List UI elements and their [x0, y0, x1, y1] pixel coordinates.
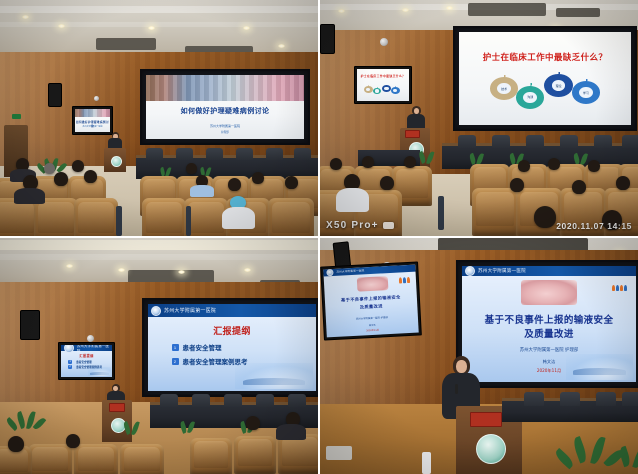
speaker-box: [48, 83, 62, 107]
auditorium-scene-tl: 如何做好护理疑难病例讨论 苏州大学附属第一医院 如何做好护理疑难病例讨论 苏州大…: [0, 0, 318, 236]
camera-icon: [87, 335, 94, 342]
side-monitor-title-tr: 护士在临床工作中最缺乏什么？: [357, 74, 409, 78]
slide-sub2-tl: 护理部: [146, 130, 304, 134]
slide-bl: 苏州大学附属第一医院 汇报提纲 1 患者安全管理 2 患者安全管理案例思考: [148, 304, 316, 391]
bullet-number-icon: 1: [172, 344, 179, 351]
slide-title-bl: 汇报提纲: [148, 324, 316, 337]
nameplate: [470, 412, 502, 427]
panel-top-right: 护士在临床工作中最缺乏什么？ 护士在临床工作中最缺乏什么？: [320, 0, 638, 236]
slide-decor-graphic: [235, 363, 312, 389]
speaker-box: [320, 24, 335, 54]
auditorium-scene-tr: 护士在临床工作中最缺乏什么？ 护士在临床工作中最缺乏什么？: [320, 0, 638, 236]
projection-screen-tl: 如何做好护理疑难病例讨论 苏州大学附属第一医院 护理部: [140, 69, 310, 145]
slide-title-tr: 护士在临床工作中最缺乏什么？: [459, 51, 631, 63]
camera-watermark: X50 Pro+: [326, 220, 394, 231]
bullet-number-icon: 2: [172, 358, 179, 365]
slide-header-bar: 苏州大学附属第一医院: [148, 304, 316, 317]
side-monitor-bl: 苏州大学附属第一医院 汇报提纲 1患者安全管理 2患者安全管理案例思考: [58, 342, 115, 380]
side-monitor-tl: 如何做好护理疑难病例讨论 苏州大学附属第一医院: [72, 106, 113, 135]
panel-bottom-right: 苏州大学附属第一医院 基于不良事件上报的输液安全 及质量改进 苏州大学附属第一医…: [320, 238, 638, 474]
photo-timestamp: 2020.11.07 14:15: [556, 221, 632, 231]
watermark-text: X50 Pro+: [326, 220, 379, 231]
slide-tr: 护士在临床工作中最缺乏什么？ 技术 沟通 理论: [459, 32, 631, 125]
nameplate: [109, 403, 125, 412]
nameplate: [405, 130, 420, 138]
patient-bed-illustration: [521, 280, 577, 306]
projection-screen-tr: 护士在临床工作中最缺乏什么？ 技术 沟通 理论: [453, 26, 637, 131]
university-logo-icon: [151, 306, 161, 316]
slide-sub1-tl: 苏州大学附属第一医院: [146, 124, 304, 128]
slide-title-tl: 如何做好护理疑难病例讨论: [146, 106, 304, 116]
slide-bullet-1: 1 患者安全管理: [172, 342, 222, 352]
gear-diagram: 技术 沟通 理论 学习: [490, 73, 604, 110]
speaker-box: [20, 310, 40, 340]
podium-tl: [104, 148, 126, 172]
panel-top-left: 如何做好护理疑难病例讨论 苏州大学附属第一医院 如何做好护理疑难病例讨论 苏州大…: [0, 0, 318, 236]
camera-badge-icon: [383, 222, 394, 229]
camera-icon: [380, 38, 388, 46]
slide-title-line1-br: 基于不良事件上报的输液安全: [462, 312, 636, 326]
auditorium-scene-br: 苏州大学附属第一医院 基于不良事件上报的输液安全 及质量改进 苏州大学附属第一医…: [320, 238, 638, 474]
podium-emblem-icon: [476, 434, 506, 464]
panel-bottom-left: 苏州大学附属第一医院 汇报提纲 1患者安全管理 2患者安全管理案例思考 苏州大学…: [0, 238, 318, 474]
projection-screen-bl: 苏州大学附属第一医院 汇报提纲 1 患者安全管理 2 患者安全管理案例思考: [142, 298, 318, 397]
slide-header-bar: 苏州大学附属第一医院: [462, 266, 636, 276]
side-monitor-br: 苏州大学附属第一医院 基于不良事件上报的输液安全 及质量改进 苏州大学附属第一医…: [320, 261, 422, 340]
side-monitor-tr: 护士在临床工作中最缺乏什么？: [354, 66, 412, 104]
slide-br: 苏州大学附属第一医院 基于不良事件上报的输液安全 及质量改进 苏州大学附属第一医…: [462, 266, 636, 382]
gear-4: 学习: [572, 81, 600, 104]
side-monitor-title-bl: 汇报提纲: [61, 353, 112, 358]
camera-icon: [94, 96, 99, 101]
exit-sign-icon: [12, 114, 21, 119]
slide-header-org-br: 苏州大学附属第一医院: [478, 268, 526, 274]
sanitizer-bottle: [422, 452, 431, 474]
gear-2: 沟通: [516, 86, 544, 109]
university-logo-icon: [465, 266, 475, 276]
auditorium-scene-bl: 苏州大学附属第一医院 汇报提纲 1患者安全管理 2患者安全管理案例思考 苏州大学…: [0, 238, 318, 474]
people-group-icon: [612, 285, 627, 291]
microphone-icon: [455, 384, 458, 394]
podium-emblem-icon: [111, 156, 122, 167]
slide-sub1-br: 苏州大学附属第一医院 护理部: [462, 347, 636, 353]
slide-tl: 如何做好护理疑难病例讨论 苏州大学附属第一医院 护理部: [146, 75, 304, 139]
photo-collage: 如何做好护理疑难病例讨论 苏州大学附属第一医院 如何做好护理疑难病例讨论 苏州大…: [0, 0, 638, 474]
slide-title-line2-br: 及质量改进: [462, 326, 636, 340]
slide-header-org-bl: 苏州大学附属第一医院: [164, 307, 216, 314]
potted-plant: [8, 410, 42, 436]
slide-decor-graphic: [566, 354, 632, 380]
projection-screen-br: 苏州大学附属第一医院 基于不良事件上报的输液安全 及质量改进 苏州大学附属第一医…: [456, 260, 638, 388]
floor-object: [326, 446, 352, 460]
